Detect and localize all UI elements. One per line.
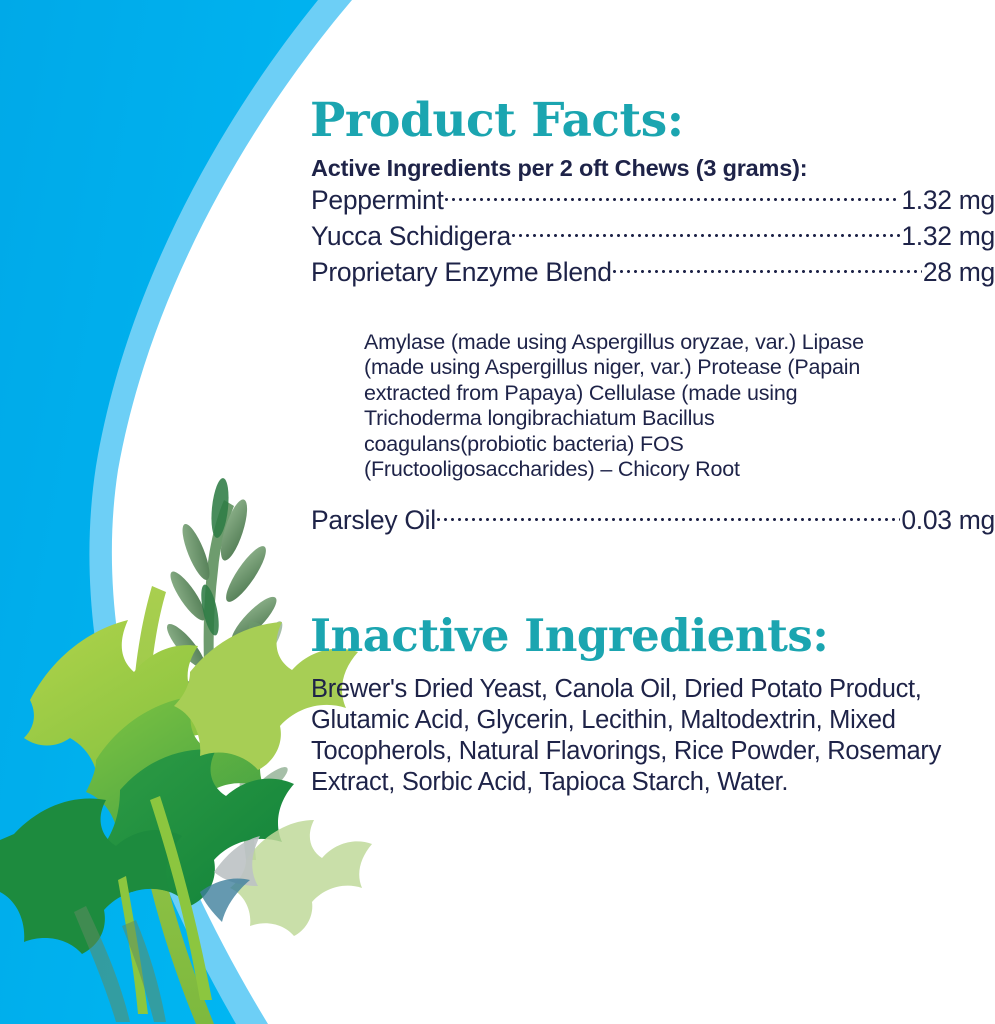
long-herb-stem <box>132 586 214 1024</box>
ingredient-name: Parsley Oil <box>311 505 436 536</box>
dot-leader <box>512 218 900 245</box>
rosemary-sprig-背 <box>207 618 294 860</box>
ingredient-row-yucca-schidigera: Yucca Schidigera 1.32 mg <box>311 218 995 254</box>
parsley-stems-shadow <box>74 906 166 1022</box>
blue-panel <box>0 0 318 1024</box>
light-blue-arc <box>0 0 352 1024</box>
trailing-ingredients-list: Parsley Oil 0.03 mg <box>311 502 995 538</box>
rosemary-stem <box>204 500 234 768</box>
dot-leader <box>437 502 901 529</box>
ingredient-name: Proprietary Enzyme Blend <box>311 257 612 288</box>
arc-white-notch <box>144 372 300 1024</box>
parsley-leaf-dark-2 <box>0 798 182 954</box>
product-facts-label: Product Facts: Active Ingredients per 2 … <box>0 0 995 1024</box>
parsley-leaf-light-1 <box>24 620 262 800</box>
label-content: Product Facts: Active Ingredients per 2 … <box>308 0 995 1024</box>
ingredient-amount: 0.03 mg <box>901 505 995 536</box>
herb-teal-accent <box>200 879 250 923</box>
ingredient-amount: 1.32 mg <box>901 185 995 216</box>
product-facts-title: Product Facts: <box>310 97 684 144</box>
dot-leader <box>445 182 901 209</box>
ingredient-row-parsley-oil: Parsley Oil 0.03 mg <box>311 502 995 538</box>
active-ingredients-list: Peppermint 1.32 mg Yucca Schidigera 1.32… <box>311 182 995 290</box>
parsley-leaf-dark-1 <box>106 749 294 906</box>
ingredient-amount: 28 mg <box>923 257 995 288</box>
inactive-ingredients-title: Inactive Ingredients: <box>310 613 828 658</box>
active-ingredients-subtitle: Active Ingredients per 2 oft Chews (3 gr… <box>311 155 807 182</box>
dot-leader <box>613 254 922 281</box>
ingredient-row-peppermint: Peppermint 1.32 mg <box>311 182 995 218</box>
rosemary-sprig <box>162 477 282 768</box>
inactive-ingredients-body: Brewer's Dried Yeast, Canola Oil, Dried … <box>311 674 943 798</box>
parsley-leaf-mid-1 <box>86 696 276 852</box>
enzyme-blend-detail: Amylase (made using Aspergillus oryzae, … <box>364 330 864 483</box>
ingredient-row-proprietary-enzyme-blend: Proprietary Enzyme Blend 28 mg <box>311 254 995 290</box>
ingredient-name: Peppermint <box>311 185 444 216</box>
ingredient-amount: 1.32 mg <box>901 221 995 252</box>
parsley-stems <box>118 796 212 1014</box>
herb-grey-accent <box>214 836 260 886</box>
ingredient-name: Yucca Schidigera <box>311 221 511 252</box>
